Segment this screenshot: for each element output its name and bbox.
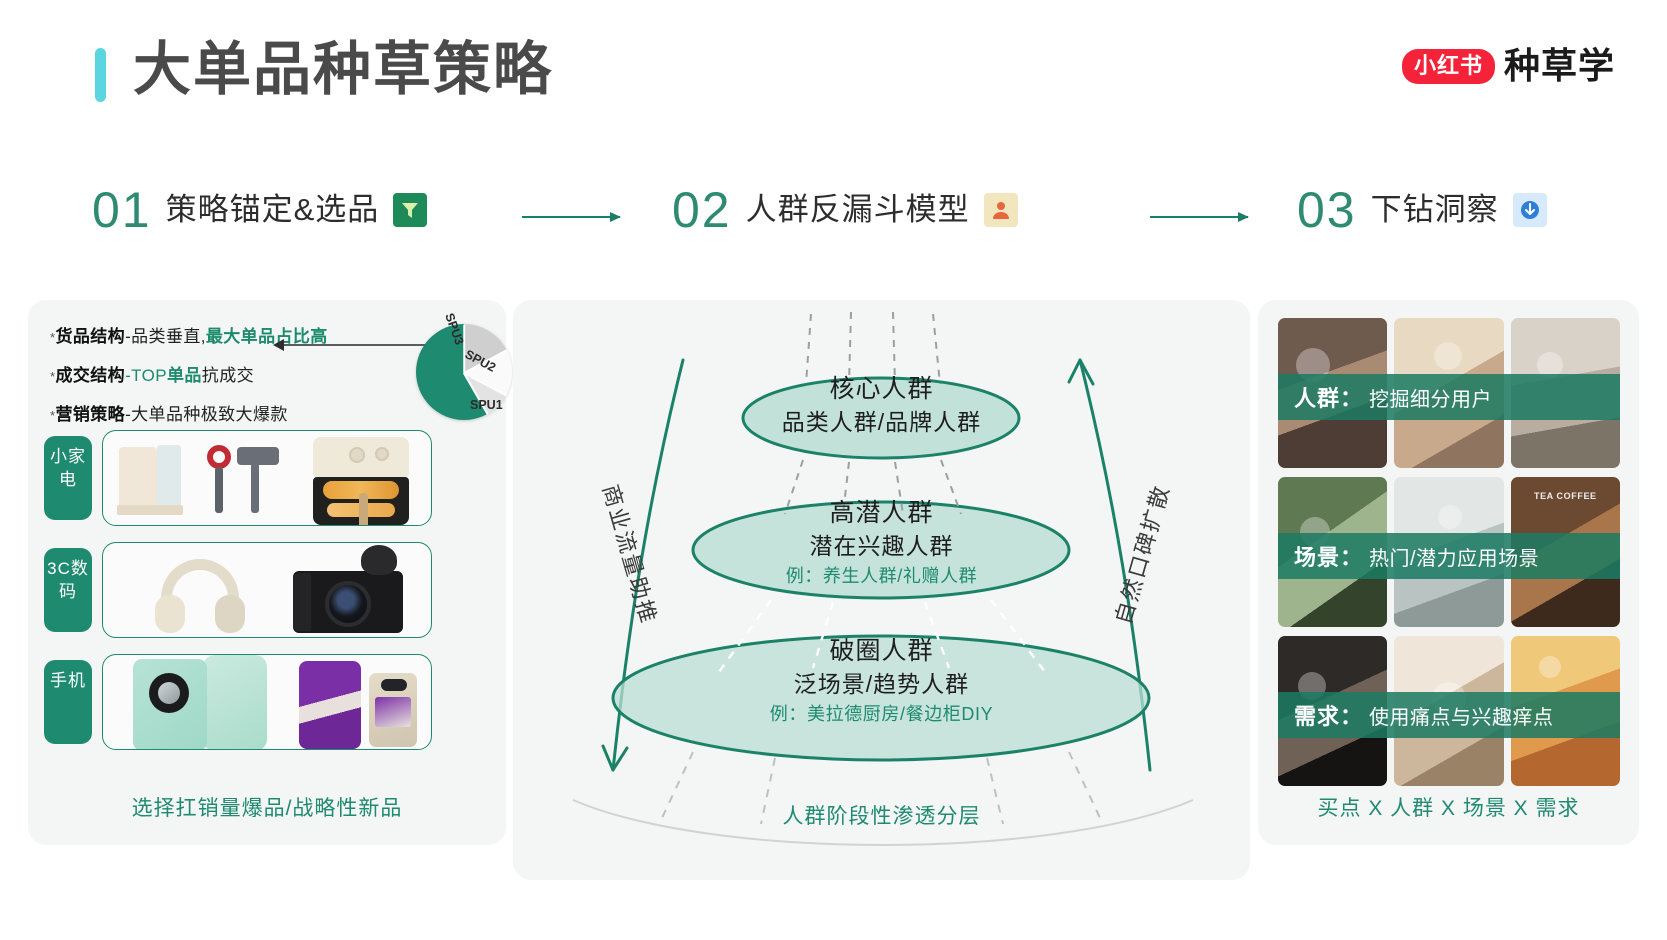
step-label: 人群反漏斗模型 bbox=[746, 190, 970, 230]
airfryer-knob-icon bbox=[375, 447, 389, 461]
funnel-icon bbox=[393, 193, 427, 227]
bullet-key: 营销策略 bbox=[55, 405, 125, 424]
page-title: 大单品种草策略 bbox=[133, 33, 553, 107]
coffee-tank-icon bbox=[157, 445, 181, 513]
step-01[interactable]: 01 策略锚定&选品 bbox=[92, 182, 427, 238]
steps-row: 01 策略锚定&选品 02 人群反漏斗模型 03 下钻洞察 bbox=[0, 182, 1667, 256]
brand-logo: 小红书 种草学 bbox=[1402, 46, 1615, 86]
category-products bbox=[102, 430, 432, 526]
spu-pie-chart: SPU1 SPU2 SPU3 bbox=[410, 310, 522, 428]
step-number: 03 bbox=[1297, 182, 1357, 238]
insight-label-overlay: 需求： 使用痛点与兴趣痒点 bbox=[1278, 692, 1620, 738]
category-row-3c[interactable]: 3C数码 bbox=[44, 542, 432, 638]
step-label: 策略锚定&选品 bbox=[166, 190, 380, 230]
insight-key: 需求： bbox=[1294, 699, 1363, 731]
pie-label-spu1: SPU1 bbox=[470, 398, 503, 412]
phone-purple-icon bbox=[299, 661, 361, 749]
down-arrow-icon bbox=[1513, 193, 1547, 227]
camera-mic-icon bbox=[361, 545, 397, 575]
funnel-layer-breakout: 破圈人群 泛场景/趋势人群 例：美拉德厨房/餐边柜DIY bbox=[513, 634, 1250, 728]
headphones-cup-icon bbox=[215, 595, 245, 633]
reverse-funnel-diagram: 核心人群 品类人群/品牌人群 高潜人群 潜在兴趣人群 例：养生人群/礼赠人群 破… bbox=[513, 300, 1250, 880]
camera-lens-icon bbox=[325, 581, 371, 627]
coffee-base-icon bbox=[117, 505, 183, 515]
insight-key: 场景： bbox=[1294, 540, 1363, 572]
brand-word-label: 种草学 bbox=[1504, 46, 1615, 86]
slide-header: 大单品种草策略 小红书 种草学 bbox=[0, 0, 1667, 150]
funnel-layer-sub: 泛场景/趋势人群 bbox=[513, 668, 1250, 700]
coffee-machine-icon bbox=[119, 447, 157, 513]
panel-reverse-funnel: 核心人群 品类人群/品牌人群 高潜人群 潜在兴趣人群 例：养生人群/礼赠人群 破… bbox=[513, 300, 1250, 880]
insight-row-scene[interactable]: TEA COFFEE 场景： 热门/潜力应用场景 bbox=[1278, 477, 1620, 627]
insight-label-overlay: 人群： 挖掘细分用户 bbox=[1278, 374, 1620, 420]
callout-arrowhead bbox=[273, 339, 284, 351]
category-products bbox=[102, 542, 432, 638]
photo-badge-text: TEA COFFEE bbox=[1534, 491, 1597, 501]
insight-key: 人群： bbox=[1294, 381, 1363, 413]
insight-value: 挖掘细分用户 bbox=[1369, 383, 1492, 412]
category-tag: 手机 bbox=[44, 660, 92, 744]
phone-camera-lens-icon bbox=[158, 682, 180, 704]
right-panel-caption: 买点 X 人群 X 场景 X 需求 bbox=[1258, 792, 1639, 822]
photo-highlight bbox=[1539, 656, 1561, 678]
camera-grip-icon bbox=[293, 573, 311, 631]
category-tag: 小家电 bbox=[44, 436, 92, 520]
bullet-plain: 品类垂直, bbox=[131, 327, 206, 346]
funnel-layer-core: 核心人群 品类人群/品牌人群 bbox=[513, 372, 1250, 438]
bullet-highlight: 单品 bbox=[167, 366, 202, 385]
step-03[interactable]: 03 下钻洞察 bbox=[1297, 182, 1547, 238]
airfryer-handle-icon bbox=[359, 493, 368, 526]
step-number: 01 bbox=[92, 182, 152, 238]
bullet-key: 成交结构 bbox=[55, 366, 125, 385]
hairdryer-head-icon bbox=[237, 447, 279, 465]
category-row-appliances[interactable]: 小家电 bbox=[44, 430, 432, 526]
step-arrow-2 bbox=[1150, 216, 1248, 218]
step-number: 02 bbox=[672, 182, 732, 238]
insight-row-demand[interactable]: 需求： 使用痛点与兴趣痒点 bbox=[1278, 636, 1620, 786]
category-row-phones[interactable]: 手机 bbox=[44, 654, 432, 750]
category-tag: 3C数码 bbox=[44, 548, 92, 632]
slide-root: 大单品种草策略 小红书 种草学 01 策略锚定&选品 02 人群反漏斗模型 bbox=[0, 0, 1667, 940]
pie-separator bbox=[463, 325, 465, 373]
headphones-cup-icon bbox=[155, 595, 185, 633]
phone-mint-secondary-icon bbox=[203, 655, 267, 750]
funnel-layer-sub: 品类人群/品牌人群 bbox=[513, 406, 1250, 438]
funnel-layer-title: 破圈人群 bbox=[513, 634, 1250, 668]
phone-folding-camera-icon bbox=[381, 679, 407, 691]
funnel-layer-title: 核心人群 bbox=[513, 372, 1250, 406]
bullet-plain: 大单品种极致大爆款 bbox=[131, 405, 288, 424]
hairdryer-handle2-icon bbox=[251, 463, 259, 513]
left-panel-caption: 选择扛销量爆品/战略性新品 bbox=[28, 792, 506, 822]
insight-value: 使用痛点与兴趣痒点 bbox=[1369, 701, 1554, 730]
brand-pill-label: 小红书 bbox=[1402, 49, 1495, 84]
bullet-key: 货品结构 bbox=[55, 327, 125, 346]
insight-row-audience[interactable]: 人群： 挖掘细分用户 bbox=[1278, 318, 1620, 468]
category-products bbox=[102, 654, 432, 750]
step-label: 下钻洞察 bbox=[1371, 190, 1499, 230]
panel-strategy-anchoring: *货品结构-品类垂直,最大单品占比高 *成交结构-TOP单品抗成交 *营销策略-… bbox=[28, 300, 506, 845]
title-accent-bar bbox=[95, 48, 106, 102]
insight-value: 热门/潜力应用场景 bbox=[1369, 542, 1539, 571]
insight-grid: 人群： 挖掘细分用户 TEA COFFEE 场景： 热门/潜力应用场景 bbox=[1278, 318, 1620, 795]
bust-icon bbox=[984, 193, 1018, 227]
hairdryer-handle-icon bbox=[215, 467, 223, 513]
phone-folding-screen-icon bbox=[375, 697, 411, 727]
step-arrow-1 bbox=[522, 216, 620, 218]
hairdryer-ring-icon bbox=[207, 445, 231, 469]
bullet-highlight-light: TOP bbox=[131, 366, 167, 385]
mid-panel-caption: 人群阶段性渗透分层 bbox=[513, 800, 1250, 830]
step-02[interactable]: 02 人群反漏斗模型 bbox=[672, 182, 1018, 238]
panel-drilldown-insight: 人群： 挖掘细分用户 TEA COFFEE 场景： 热门/潜力应用场景 bbox=[1258, 300, 1639, 845]
insight-label-overlay: 场景： 热门/潜力应用场景 bbox=[1278, 533, 1620, 579]
airfryer-knob-icon bbox=[349, 447, 365, 463]
bullet-plain: 抗成交 bbox=[202, 366, 254, 385]
funnel-layer-example: 例：美拉德厨房/餐边柜DIY bbox=[513, 700, 1250, 728]
